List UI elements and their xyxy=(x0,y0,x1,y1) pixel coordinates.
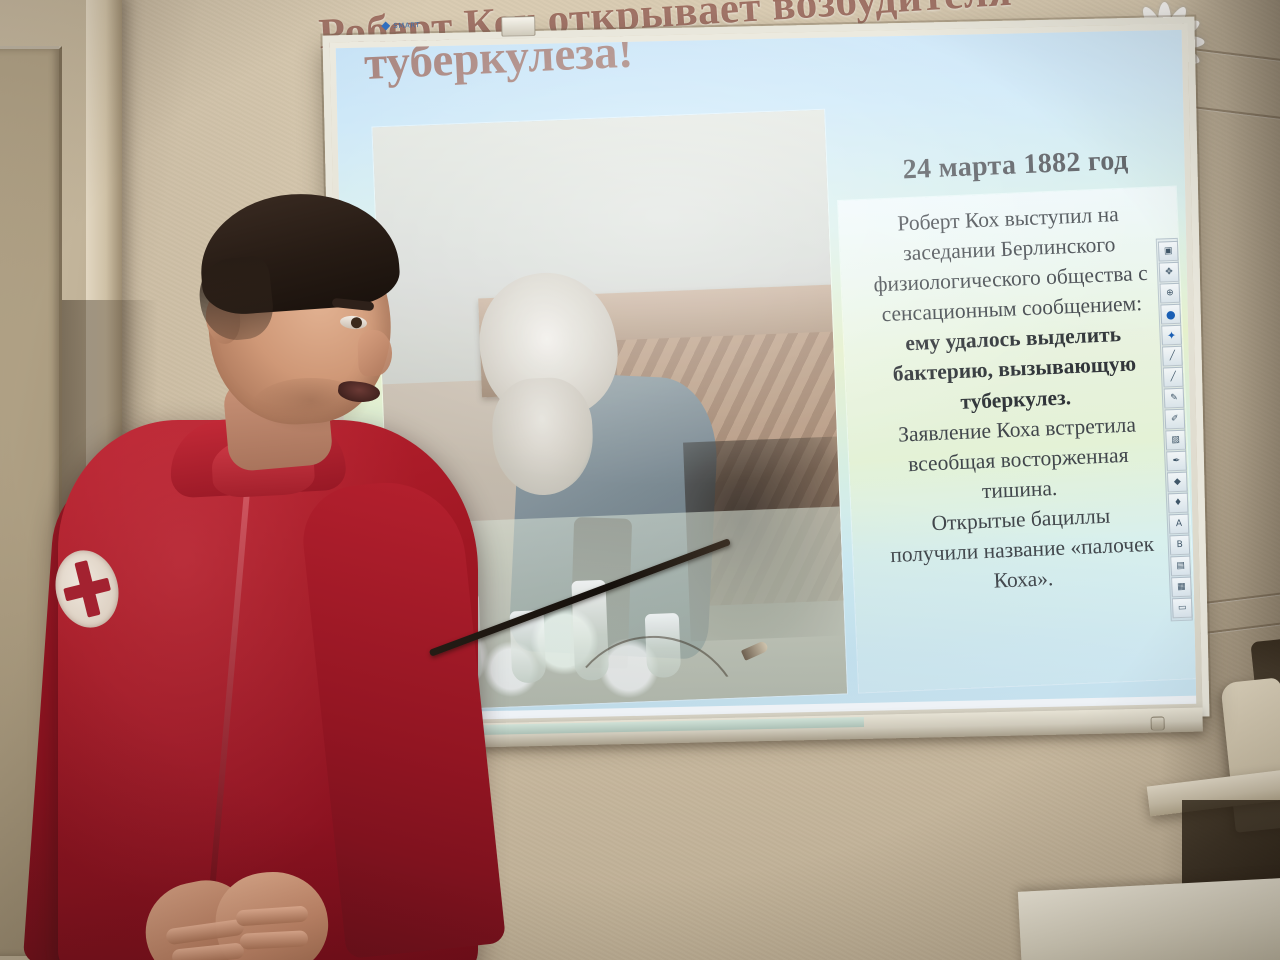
pan-tool-icon[interactable]: ✥ xyxy=(1159,262,1180,283)
shape-tool-icon[interactable]: ◆ xyxy=(1167,472,1188,493)
pencil-tool-icon[interactable]: ✐ xyxy=(1164,409,1185,430)
presenter xyxy=(40,182,510,960)
save-tool-icon[interactable]: ▦ xyxy=(1171,577,1192,598)
zoom-tool-icon[interactable]: ⊕ xyxy=(1160,283,1181,304)
text-tool-icon[interactable]: A xyxy=(1169,514,1190,535)
slide-date-heading: 24 марта 1882 год xyxy=(850,142,1181,188)
slide-title: туберкулеза! xyxy=(363,30,634,88)
board-brand-logo: SMART xyxy=(381,20,420,31)
eraser-tool-icon[interactable]: ▨ xyxy=(1165,430,1186,451)
highlighter-tool-icon[interactable]: ╱ xyxy=(1163,367,1184,388)
bold-text-tool-icon[interactable]: B xyxy=(1169,535,1190,556)
marker-tool-icon[interactable]: ✎ xyxy=(1164,388,1185,409)
tray-knob[interactable] xyxy=(1151,716,1165,730)
pen-blue-thin-tool-icon[interactable]: ✦ xyxy=(1161,325,1182,346)
board-clip xyxy=(501,16,535,37)
photo-scene: Роберт Кох открывает возбудителя SMART т… xyxy=(0,0,1280,960)
brand-label: SMART xyxy=(393,21,420,30)
brand-diamond-icon xyxy=(381,21,390,30)
stamp-tool-icon[interactable]: ♦ xyxy=(1168,493,1189,514)
image-tool-icon[interactable]: ▤ xyxy=(1170,556,1191,577)
slide-text-panel: Роберт Кох выступил на заседании Берлинс… xyxy=(838,187,1196,693)
keyboard-tool-icon[interactable]: ▭ xyxy=(1172,598,1193,619)
select-tool-icon[interactable]: ▣ xyxy=(1158,241,1179,262)
pen-blue-tool-icon[interactable]: ● xyxy=(1160,304,1181,325)
brush-tool-icon[interactable]: ✒ xyxy=(1166,451,1187,472)
line-tool-icon[interactable]: ╱ xyxy=(1162,346,1183,367)
